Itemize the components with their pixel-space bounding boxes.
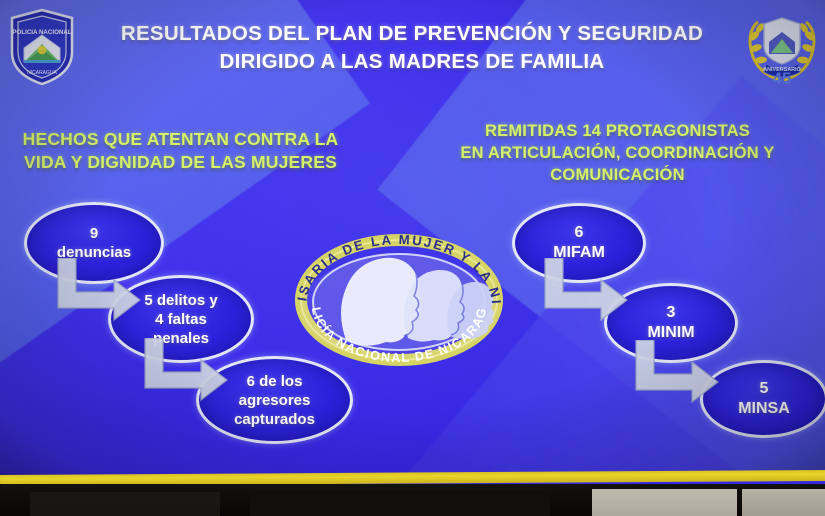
left-section-heading: HECHOS QUE ATENTAN CONTRA LA VIDA Y DIGN…: [8, 128, 353, 174]
room-wall-panel-far-right: [742, 489, 825, 516]
room-dark-area-left: [30, 492, 220, 516]
projected-slide-photo: RESULTADOS DEL PLAN DE PREVENCIÓN Y SEGU…: [0, 0, 825, 516]
elbow-arrow-icon-minim-to-minsa: [634, 340, 720, 406]
elbow-arrow-icon-denuncias-to-delitos: [56, 258, 142, 324]
elbow-arrow-icon-delitos-to-agresores: [143, 338, 229, 404]
comisaria-de-la-mujer-logo-icon: COMISARIA DE LA MUJER Y LA NIÑEZ POLICÍA…: [288, 222, 510, 370]
page-title: RESULTADOS DEL PLAN DE PREVENCIÓN Y SEGU…: [92, 20, 732, 76]
elbow-arrow-icon-mifam-to-minim: [543, 258, 629, 324]
right-section-heading: REMITIDAS 14 PROTAGONISTAS EN ARTICULACI…: [420, 120, 815, 186]
slide-surface: RESULTADOS DEL PLAN DE PREVENCIÓN Y SEGU…: [0, 0, 825, 478]
svg-text:NICARAGUA: NICARAGUA: [27, 70, 57, 76]
aniversario-number: 45: [773, 69, 792, 88]
45-aniversario-laurel-icon: ANIVERSARIO 45: [742, 8, 822, 92]
policia-nacional-shield-icon: POLICIA NACIONAL NICARAGUA: [8, 8, 76, 86]
room-wall-panel-right: [592, 489, 737, 516]
room-dark-area-center: [250, 495, 550, 516]
